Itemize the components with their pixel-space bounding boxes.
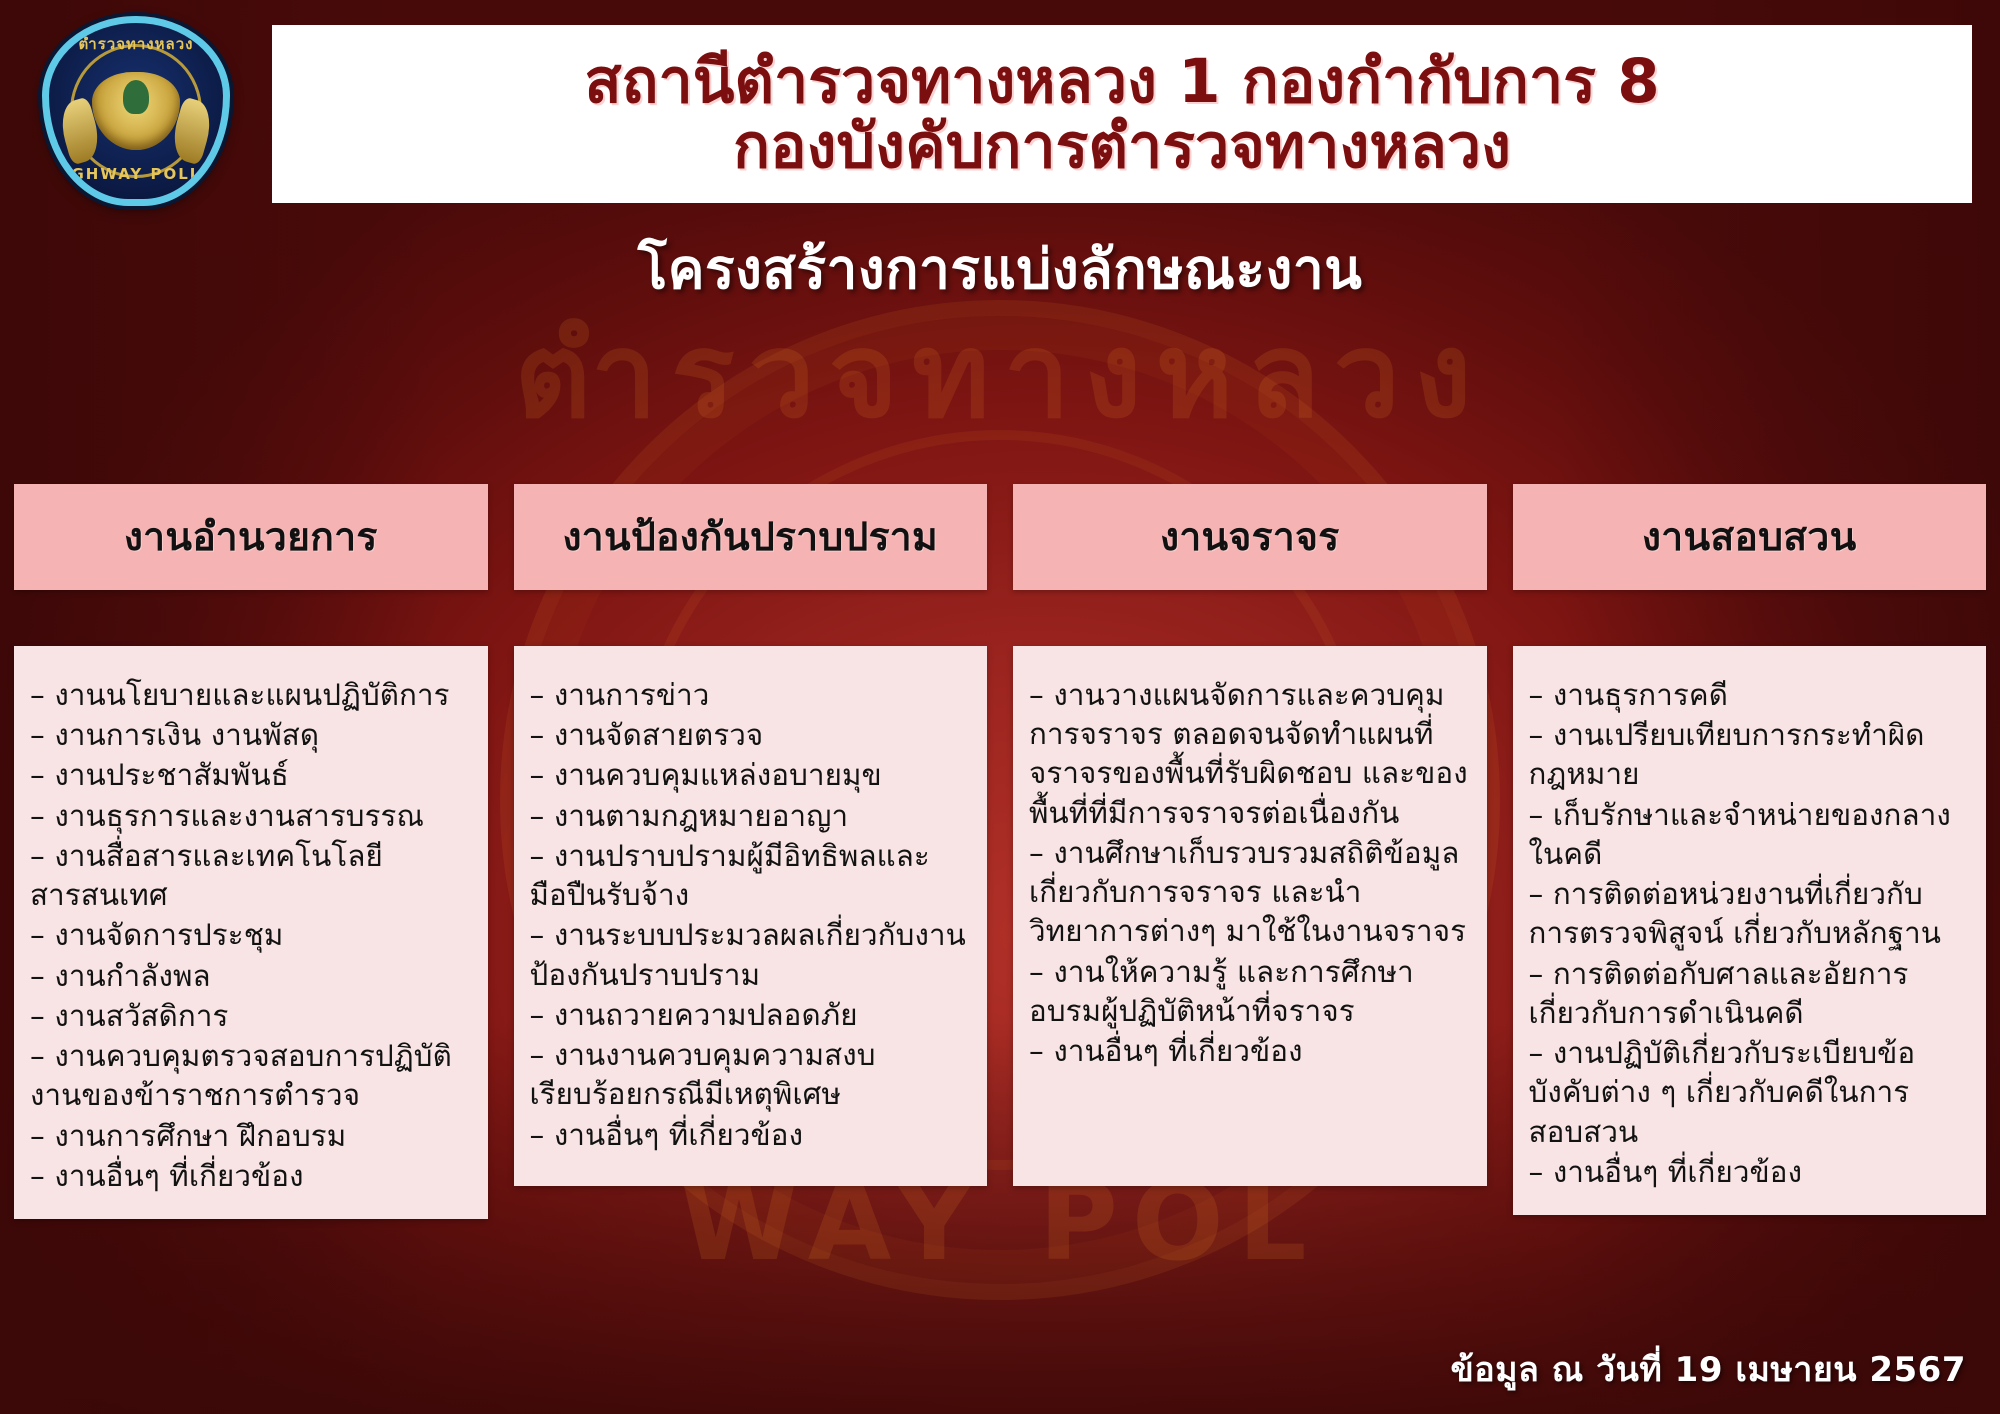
list-item: – งานควบคุมแหล่งอบายมุข xyxy=(530,756,972,795)
list-item: – งานการเงิน งานพัสดุ xyxy=(30,716,472,755)
column-administration: งานอำนวยการ – งานนโยบายและแผนปฏิบัติการ … xyxy=(14,484,488,1219)
list-item: – งานปฏิบัติเกี่ยวกับระเบียบข้อบังคับต่า… xyxy=(1529,1034,1971,1152)
list-item: – การติดต่อกับศาลและอัยการเกี่ยวกับการดำ… xyxy=(1529,955,1971,1033)
list-item: – เก็บรักษาและจำหน่ายของกลางในคดี xyxy=(1529,796,1971,874)
column-traffic: งานจราจร – งานวางแผนจัดการและควบคุมการจร… xyxy=(1013,484,1487,1219)
list-item: – งานประชาสัมพันธ์ xyxy=(30,756,472,795)
list-item: – งานงานควบคุมความสงบเรียบร้อยกรณีมีเหตุ… xyxy=(530,1036,972,1114)
list-item: – งานเปรียบเทียบการกระทำผิดกฎหมาย xyxy=(1529,716,1971,794)
column-header-traffic: งานจราจร xyxy=(1013,484,1487,590)
column-header-investigation: งานสอบสวน xyxy=(1513,484,1987,590)
list-item: – งานกำลังพล xyxy=(30,957,472,996)
list-item: – งานอื่นๆ ที่เกี่ยวข้อง xyxy=(1029,1032,1471,1071)
data-as-of-date: ข้อมูล ณ วันที่ 19 เมษายน 2567 xyxy=(1450,1342,1966,1396)
list-item: – งานธุรการคดี xyxy=(1529,676,1971,715)
list-item: – งานควบคุมตรวจสอบการปฏิบัติงานของข้าราช… xyxy=(30,1037,472,1115)
column-header-crime-prevention: งานป้องกันปราบปราม xyxy=(514,484,988,590)
column-body-investigation: – งานธุรการคดี – งานเปรียบเทียบการกระทำผ… xyxy=(1513,646,1987,1215)
list-item: – งานสวัสดิการ xyxy=(30,997,472,1036)
highway-police-crest-icon: ตำรวจทางหลวง HIGHWAY POLICE xyxy=(42,16,230,206)
page-title-line-1: สถานีตำรวจทางหลวง 1 กองกำกับการ 8 xyxy=(584,50,1659,113)
column-crime-prevention: งานป้องกันปราบปราม – งานการข่าว – งานจัด… xyxy=(514,484,988,1219)
list-item: – งานศึกษาเก็บรวบรวมสถิติข้อมูลเกี่ยวกับ… xyxy=(1029,834,1471,952)
column-header-administration: งานอำนวยการ xyxy=(14,484,488,590)
list-item: – งานนโยบายและแผนปฏิบัติการ xyxy=(30,676,472,715)
column-header-label: งานป้องกันปราบปราม xyxy=(562,506,938,568)
column-body-crime-prevention: – งานการข่าว – งานจัดสายตรวจ – งานควบคุม… xyxy=(514,646,988,1186)
list-item: – งานจัดการประชุม xyxy=(30,916,472,955)
list-item: – งานอื่นๆ ที่เกี่ยวข้อง xyxy=(1529,1153,1971,1192)
list-item: – งานระบบประมวลผลเกี่ยวกับงานป้องกันปราบ… xyxy=(530,916,972,994)
column-investigation: งานสอบสวน – งานธุรการคดี – งานเปรียบเทีย… xyxy=(1513,484,1987,1219)
list-item: – งานวางแผนจัดการและควบคุมการจราจร ตลอดจ… xyxy=(1029,676,1471,833)
title-box: สถานีตำรวจทางหลวง 1 กองกำกับการ 8 กองบัง… xyxy=(272,25,1972,203)
list-item: – งานถวายความปลอดภัย xyxy=(530,996,972,1035)
crest-top-text: ตำรวจทางหลวง xyxy=(49,32,223,56)
list-item: – งานสื่อสารและเทคโนโลยีสารสนเทศ xyxy=(30,837,472,915)
list-item: – งานอื่นๆ ที่เกี่ยวข้อง xyxy=(530,1116,972,1155)
list-item: – งานอื่นๆ ที่เกี่ยวข้อง xyxy=(30,1157,472,1196)
list-item: – การติดต่อหน่วยงานที่เกี่ยวกับการตรวจพิ… xyxy=(1529,875,1971,953)
page-subtitle: โครงสร้างการแบ่งลักษณะงาน xyxy=(0,226,2000,313)
column-header-label: งานสอบสวน xyxy=(1642,506,1857,568)
header-band: ตำรวจทางหลวง HIGHWAY POLICE สถานีตำรวจทา… xyxy=(0,0,2000,210)
column-body-traffic: – งานวางแผนจัดการและควบคุมการจราจร ตลอดจ… xyxy=(1013,646,1487,1186)
list-item: – งานตามกฎหมายอาญา xyxy=(530,797,972,836)
list-item: – งานการศึกษา ฝึกอบรม xyxy=(30,1117,472,1156)
list-item: – งานการข่าว xyxy=(530,676,972,715)
crest-bottom-text: HIGHWAY POLICE xyxy=(49,165,223,183)
column-header-label: งานจราจร xyxy=(1160,506,1340,568)
list-item: – งานให้ความรู้ และการศึกษาอบรมผู้ปฏิบัต… xyxy=(1029,953,1471,1031)
list-item: – งานปราบปรามผู้มีอิทธิพลและมือปืนรับจ้า… xyxy=(530,837,972,915)
work-structure-columns: งานอำนวยการ – งานนโยบายและแผนปฏิบัติการ … xyxy=(14,484,1986,1219)
column-header-label: งานอำนวยการ xyxy=(124,506,378,568)
page-title-line-2: กองบังคับการตำรวจทางหลวง xyxy=(733,115,1511,178)
column-body-administration: – งานนโยบายและแผนปฏิบัติการ – งานการเงิน… xyxy=(14,646,488,1219)
list-item: – งานจัดสายตรวจ xyxy=(530,716,972,755)
list-item: – งานธุรการและงานสารบรรณ xyxy=(30,797,472,836)
